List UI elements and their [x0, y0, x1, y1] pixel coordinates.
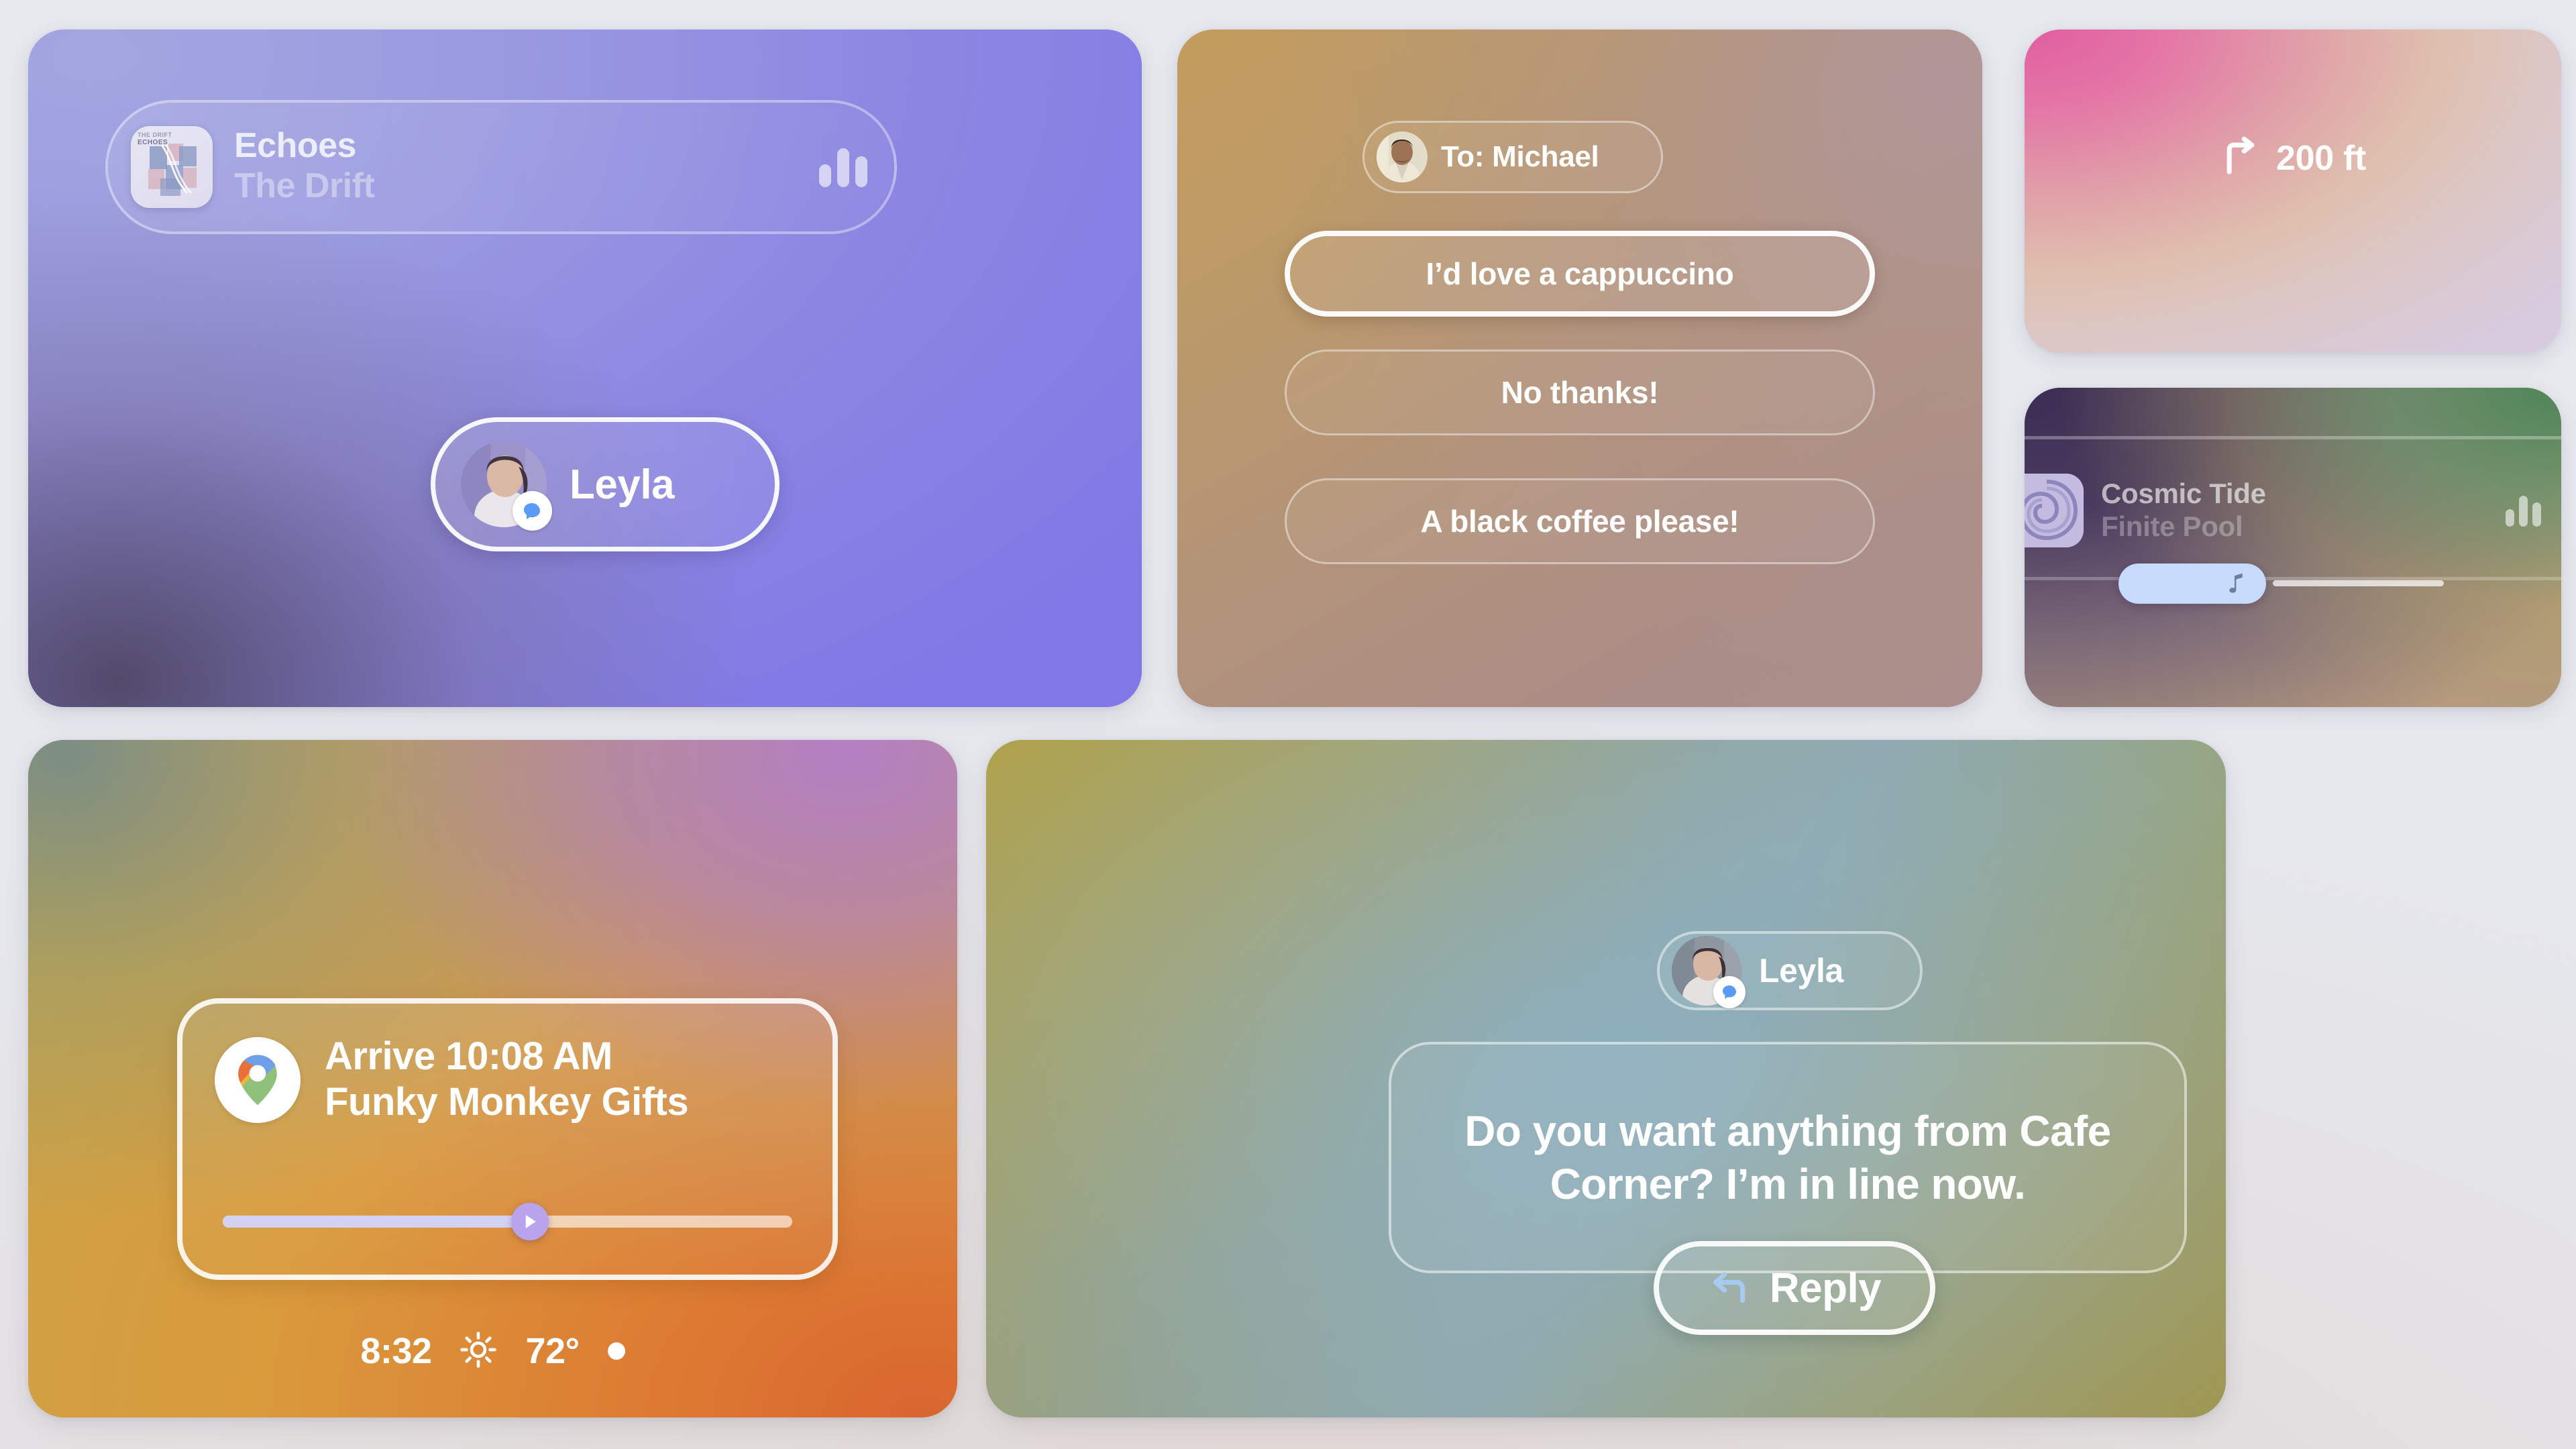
reply-option-0[interactable]: I’d love a cappuccino: [1285, 231, 1875, 317]
divider-top: [2025, 436, 2561, 439]
widget-board: THE DRIFT ECHOES Echoes The Drift: [0, 0, 2576, 1449]
reply-option-1[interactable]: No thanks!: [1285, 350, 1875, 435]
reply-button-label: Reply: [1770, 1265, 1881, 1312]
reply-arrow-icon: [1708, 1266, 1750, 1311]
card-background-gradient: [2025, 30, 2561, 353]
track-info: Echoes The Drift: [234, 128, 819, 205]
equalizer-icon: [819, 147, 867, 187]
navigation-distance: 200 ft: [2276, 138, 2366, 178]
maps-eta: Arrive 10:08 AM: [325, 1036, 688, 1078]
maps-header: Arrive 10:08 AM Funky Monkey Gifts: [182, 1004, 833, 1124]
album-art-title-label: ECHOES: [138, 139, 172, 146]
navigation-arrow-icon[interactable]: [511, 1203, 549, 1240]
message-body: Do you want anything from Cafe Corner? I…: [1421, 1105, 2155, 1210]
track-info: Cosmic Tide Finite Pool: [2101, 479, 2506, 541]
maps-destination: Funky Monkey Gifts: [325, 1081, 688, 1124]
navigation-card[interactable]: 200 ft: [2025, 30, 2561, 353]
media-card-dark[interactable]: Cosmic Tide Finite Pool: [2025, 388, 2561, 707]
track-title: Cosmic Tide: [2101, 479, 2506, 508]
maps-route-progress[interactable]: [223, 1216, 792, 1228]
media-scrubber-handle[interactable]: [2118, 563, 2266, 604]
status-dot: [608, 1342, 625, 1360]
media-progress-track[interactable]: [2273, 580, 2444, 586]
navigation-maneuver: 200 ft: [2025, 136, 2561, 180]
avatar-leyla: [461, 441, 547, 527]
messages-bubble-icon: [513, 491, 552, 531]
maps-navigation-panel[interactable]: Arrive 10:08 AM Funky Monkey Gifts: [177, 998, 838, 1280]
avatar-michael: [1377, 131, 1428, 182]
maps-route-progress-fill: [223, 1216, 530, 1228]
message-sender-name: Leyla: [1759, 951, 1843, 990]
album-art-artist-label: THE DRIFT: [138, 131, 172, 139]
album-art-cosmic-tide: [2025, 474, 2084, 547]
status-temperature: 72°: [525, 1330, 579, 1372]
track-artist: The Drift: [234, 166, 819, 205]
status-row: 8:32 72°: [28, 1330, 957, 1372]
contact-name: Leyla: [570, 461, 674, 508]
message-card[interactable]: Leyla Do you want anything from Cafe Cor…: [986, 740, 2226, 1417]
message-bubble: Do you want anything from Cafe Corner? I…: [1389, 1042, 2187, 1273]
maps-text: Arrive 10:08 AM Funky Monkey Gifts: [325, 1036, 688, 1124]
music-note-icon: [2224, 569, 2251, 599]
media-card-purple[interactable]: THE DRIFT ECHOES Echoes The Drift: [28, 30, 1142, 707]
recipient-pill[interactable]: To: Michael: [1362, 121, 1663, 193]
suggested-replies-card[interactable]: To: Michael I’d love a cappuccino No tha…: [1177, 30, 1982, 707]
reply-option-2[interactable]: A black coffee please!: [1285, 478, 1875, 564]
album-art-echoes: THE DRIFT ECHOES: [131, 126, 213, 208]
track-title: Echoes: [234, 128, 819, 164]
avatar-leyla: [1672, 936, 1741, 1006]
google-maps-pin-icon: [215, 1037, 301, 1123]
status-time: 8:32: [360, 1330, 431, 1372]
recipient-label: To: Michael: [1441, 140, 1599, 174]
reply-button[interactable]: Reply: [1654, 1241, 1935, 1335]
maps-card[interactable]: Arrive 10:08 AM Funky Monkey Gifts 8:32: [28, 740, 957, 1417]
mini-player[interactable]: THE DRIFT ECHOES Echoes The Drift: [105, 100, 897, 234]
sun-icon: [460, 1331, 497, 1372]
track-artist: Finite Pool: [2101, 511, 2506, 542]
message-sender-pill[interactable]: Leyla: [1657, 931, 1923, 1010]
equalizer-icon: [2506, 494, 2541, 527]
media-row[interactable]: Cosmic Tide Finite Pool: [2025, 460, 2561, 561]
contact-pill-leyla[interactable]: Leyla: [431, 417, 780, 551]
album-art-text: THE DRIFT ECHOES: [138, 131, 172, 146]
avatar-photo: [1377, 131, 1428, 182]
messages-bubble-icon: [1713, 976, 1746, 1008]
turn-right-icon: [2220, 136, 2261, 180]
